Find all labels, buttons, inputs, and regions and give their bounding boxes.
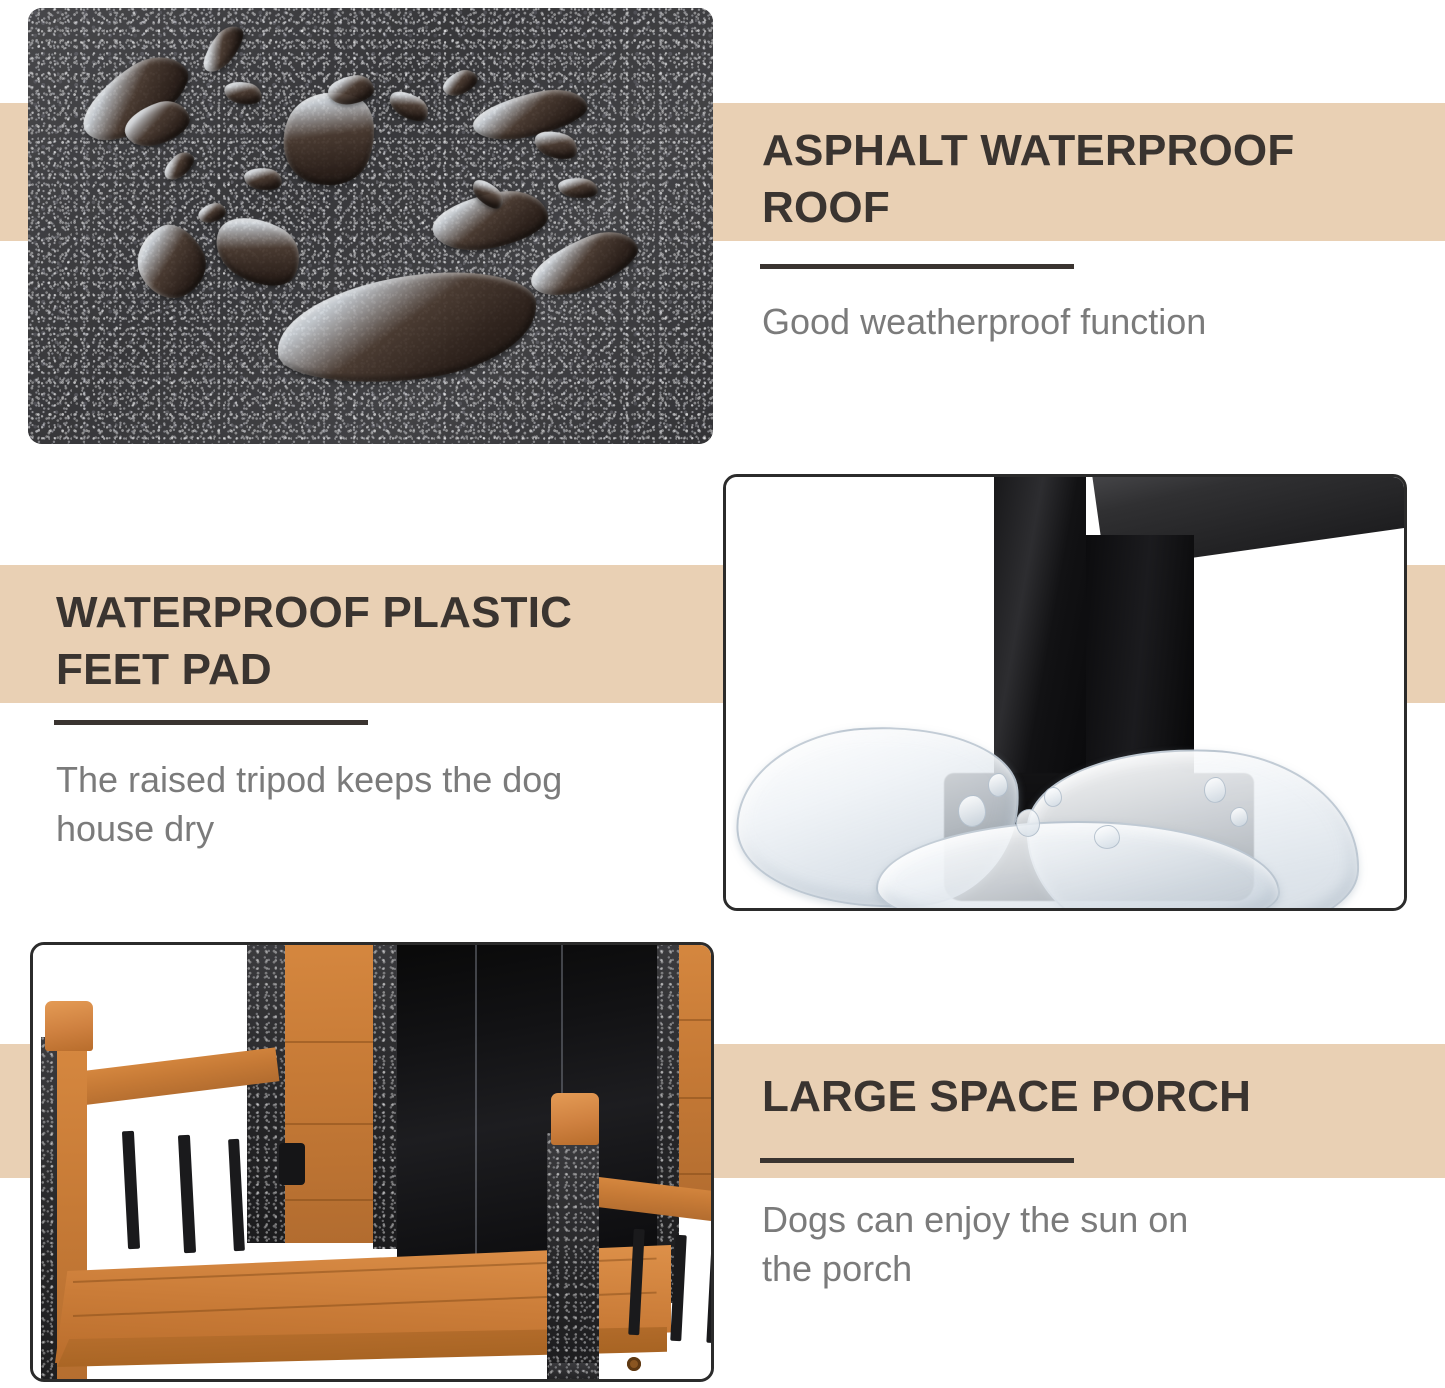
porch-post-cap-left — [45, 1001, 93, 1051]
deck-screw — [627, 1357, 641, 1371]
feature-description-porch: Dogs can enjoy the sun on the porch — [762, 1196, 1382, 1294]
dog-house-doorway — [397, 943, 657, 1263]
water-splash-drop — [1094, 825, 1120, 849]
water-splash-drop — [1230, 807, 1248, 827]
water-splash-drop — [1204, 777, 1226, 803]
corner-trim-post — [247, 943, 285, 1243]
feature-title-feet-pad: WATERPROOF PLASTIC FEET PAD — [56, 584, 696, 698]
feature-description-asphalt-roof: Good weatherproof function — [762, 298, 1402, 347]
railing-baluster — [178, 1135, 196, 1253]
railing-baluster — [122, 1131, 140, 1249]
feature-divider-feet-pad — [54, 720, 368, 725]
railing-baluster — [706, 1241, 714, 1343]
dog-house-leg — [994, 474, 1086, 785]
porch-post-cap-front — [551, 1093, 599, 1145]
feature-image-porch — [30, 942, 714, 1382]
feature-divider-porch — [760, 1158, 1074, 1163]
feature-title-porch: LARGE SPACE PORCH — [762, 1068, 1422, 1125]
feature-divider-asphalt-roof — [760, 264, 1074, 269]
water-splash-drop — [1044, 787, 1062, 807]
feature-description-feet-pad: The raised tripod keeps the dog house dr… — [56, 756, 676, 854]
feature-image-feet-pad — [723, 474, 1407, 911]
foot-pad-scene — [726, 477, 1404, 908]
railing-baluster — [228, 1139, 245, 1251]
porch-post-front-lower — [549, 1363, 597, 1382]
water-splash-drop — [958, 795, 986, 827]
infographic-canvas: ASPHALT WATERPROOF ROOF Good weatherproo… — [0, 0, 1445, 1388]
feature-image-asphalt-roof — [28, 8, 713, 444]
feature-title-asphalt-roof: ASPHALT WATERPROOF ROOF — [762, 122, 1422, 236]
porch-post-front-grit — [547, 1133, 599, 1382]
glass-panel-seam — [475, 943, 477, 1263]
door-latch-hardware — [279, 1143, 305, 1185]
water-splash-drop — [988, 773, 1008, 797]
porch-scene — [33, 945, 711, 1379]
water-splash-drop — [1016, 809, 1040, 837]
